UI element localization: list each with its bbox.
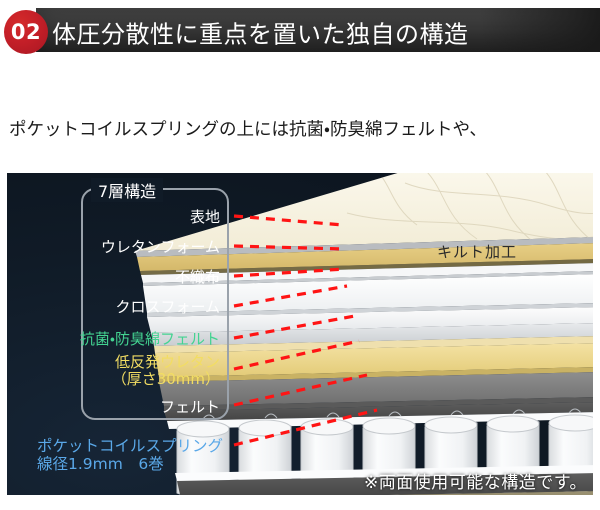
footnote-text: ※両面使用可能な構造です。 bbox=[364, 468, 587, 493]
bracket-title-label: 7層構造 bbox=[91, 178, 163, 202]
layer-label-urethane-foam: ウレタンフォーム bbox=[101, 239, 220, 256]
layer-label-antibacterial-felt: 抗菌・防臭綿フェルト bbox=[80, 331, 220, 348]
description-line-1: ポケットコイルスプリングの上には抗菌・防臭綿フェルトや、 bbox=[9, 119, 589, 143]
layer-label-memory-foam: 低反発ウレタン （厚さ30mm） bbox=[112, 354, 220, 388]
layer-label-cross-foam: クロスフォーム bbox=[115, 299, 220, 316]
mattress-structure-diagram: キルト加工 ※両面使用可能な構造です。 7層構造 表地 ウレタンフォーム 不織布… bbox=[7, 173, 593, 495]
pocket-coil-label-line1: ポケットコイルスプリング bbox=[37, 437, 223, 455]
section-header: 体圧分散性に重点を置いた独自の構造 02 bbox=[0, 8, 600, 56]
layer-label-memory-foam-line1: 低反発ウレタン bbox=[112, 354, 220, 371]
layer-label-nonwoven: 不織布 bbox=[175, 269, 220, 286]
pocket-coil-label: ポケットコイルスプリング 線径1.9mm 6巻 bbox=[37, 437, 223, 473]
layer-label-memory-foam-line2: （厚さ30mm） bbox=[112, 371, 220, 388]
pocket-coil-label-line2: 線径1.9mm 6巻 bbox=[37, 455, 223, 473]
page-title: 体圧分散性に重点を置いた独自の構造 bbox=[52, 15, 469, 50]
step-number-label: 02 bbox=[4, 10, 48, 54]
step-number-badge: 02 bbox=[4, 10, 48, 54]
quilt-label: キルト加工 bbox=[437, 241, 517, 262]
layer-label-felt: フェルト bbox=[160, 399, 220, 416]
layer-label-omotechi: 表地 bbox=[190, 209, 220, 226]
